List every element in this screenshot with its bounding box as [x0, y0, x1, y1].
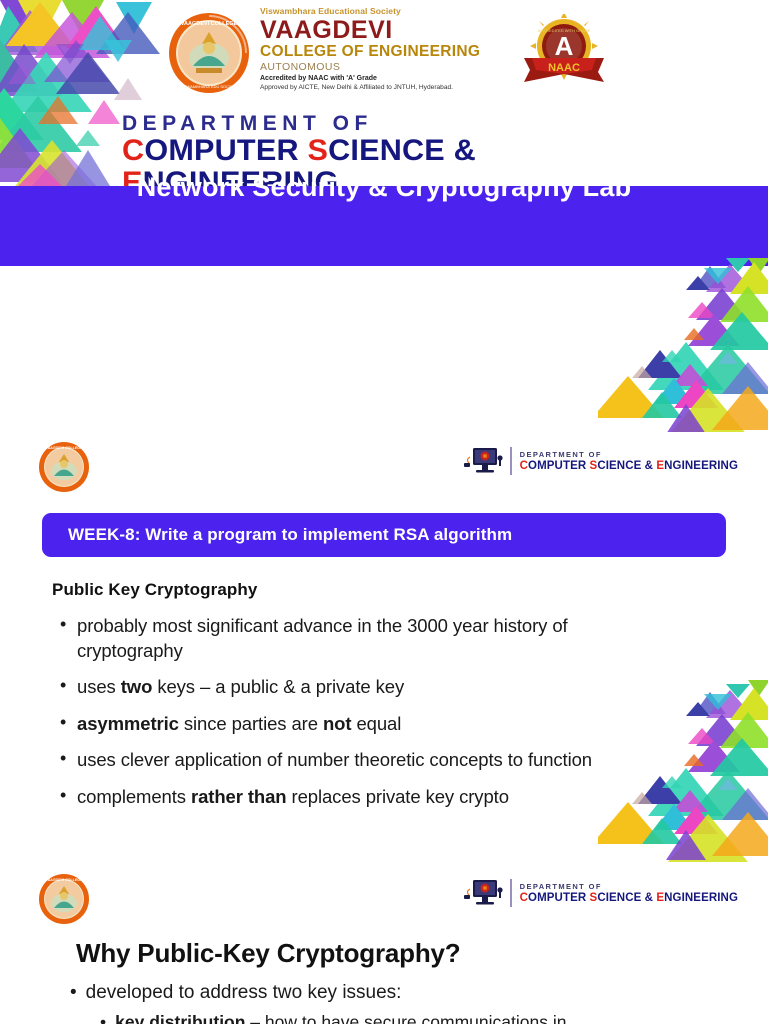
department-of-label: DEPARTMENT OF [122, 112, 682, 136]
header-cse-label: COMPUTER SCIENCE & ENGINEERING [520, 460, 738, 473]
slide-why-public-key: VAAGDEVI COLLEGE D [0, 864, 768, 1024]
header-college-seal-icon: VAAGDEVI COLLEGE [38, 440, 90, 494]
header-department-of-label-2: DEPARTMENT OF [520, 882, 738, 891]
bullet-item: probably most significant advance in the… [52, 614, 652, 663]
autonomous-label: AUTONOMOUS [260, 61, 480, 73]
week-banner: WEEK-8: Write a program to implement RSA… [42, 513, 726, 557]
monitor-icon [462, 445, 504, 477]
header-college-seal-icon-2: VAAGDEVI COLLEGE [38, 872, 90, 926]
college-name-vaagdevi: VAAGDEVI [260, 17, 480, 43]
bullet-item: uses clever application of number theore… [52, 748, 652, 773]
slide3-bullet-2: key distribution – how to have secure co… [100, 1012, 566, 1024]
header-cse-label-2: COMPUTER SCIENCE & ENGINEERING [520, 892, 738, 905]
header-department-logo: DEPARTMENT OF COMPUTER SCIENCE & ENGINEE… [462, 444, 738, 478]
svg-text:ACCREDITED WITH GRADE: ACCREDITED WITH GRADE [538, 28, 591, 33]
naac-badge-icon: A ACCREDITED WITH GRADE NAAC [518, 14, 610, 86]
svg-text:VISWAMBHARA EDU SOCIETY: VISWAMBHARA EDU SOCIETY [180, 84, 238, 89]
bullet-list: probably most significant advance in the… [52, 614, 652, 810]
logo-divider [510, 447, 512, 475]
accreditation-line: Accredited by NAAC with 'A' Grade [260, 75, 480, 82]
letterhead-text-block: Viswambhara Educational Society VAAGDEVI… [260, 6, 480, 91]
header-department-logo-2: DEPARTMENT OF COMPUTER SCIENCE & ENGINEE… [462, 876, 738, 910]
college-letterhead: VAAGDEVI COLLEGE VISWAMBHARA EDU SOCIETY… [150, 2, 620, 102]
decorative-triangles-mid-right [598, 258, 768, 432]
decorative-triangles-slide2-right [598, 674, 768, 864]
header-department-text-2: DEPARTMENT OF COMPUTER SCIENCE & ENGINEE… [520, 882, 738, 905]
approval-line: Approved by AICTE, New Delhi & Affiliate… [260, 84, 480, 91]
week-banner-text: WEEK-8: Write a program to implement RSA… [42, 525, 512, 545]
logo-divider-2 [510, 879, 512, 907]
svg-text:VAAGDEVI COLLEGE: VAAGDEVI COLLEGE [46, 446, 83, 450]
section-heading: Public Key Cryptography [52, 580, 652, 600]
svg-text:A: A [555, 31, 574, 61]
bullet-item: asymmetric since parties are not equal [52, 712, 652, 737]
monitor-icon-2 [462, 877, 504, 909]
slide-public-key-cryptography: VAAGDEVI COLLEGE D [0, 432, 768, 864]
lab-title: Network Security & Cryptography Lab [0, 170, 768, 206]
college-seal-icon: VAAGDEVI COLLEGE VISWAMBHARA EDU SOCIETY [168, 10, 250, 96]
slide-title: VAAGDEVI COLLEGE VISWAMBHARA EDU SOCIETY… [0, 0, 768, 432]
decorative-triangles-banner-right [648, 0, 768, 95]
header-department-text: DEPARTMENT OF COMPUTER SCIENCE & ENGINEE… [520, 450, 738, 473]
presentation-page: VAAGDEVI COLLEGE VISWAMBHARA EDU SOCIETY… [0, 0, 768, 1024]
lab-title-banner: Network Security & Cryptography Lab [0, 186, 768, 266]
svg-text:NAAC: NAAC [548, 62, 580, 74]
slide2-body: Public Key Cryptography probably most si… [52, 580, 652, 822]
svg-text:VAAGDEVI COLLEGE: VAAGDEVI COLLEGE [46, 878, 83, 882]
slide3-bullet-1: developed to address two key issues: [70, 982, 401, 1004]
svg-text:VAAGDEVI COLLEGE: VAAGDEVI COLLEGE [181, 21, 238, 27]
bullet-item: complements rather than replaces private… [52, 785, 652, 810]
college-of-engineering: COLLEGE OF ENGINEERING [260, 43, 480, 60]
header-department-of-label: DEPARTMENT OF [520, 450, 738, 459]
slide3-title: Why Public-Key Cryptography? [76, 938, 460, 969]
bullet-item: uses two keys – a public & a private key [52, 675, 652, 700]
society-name: Viswambhara Educational Society [260, 6, 480, 16]
